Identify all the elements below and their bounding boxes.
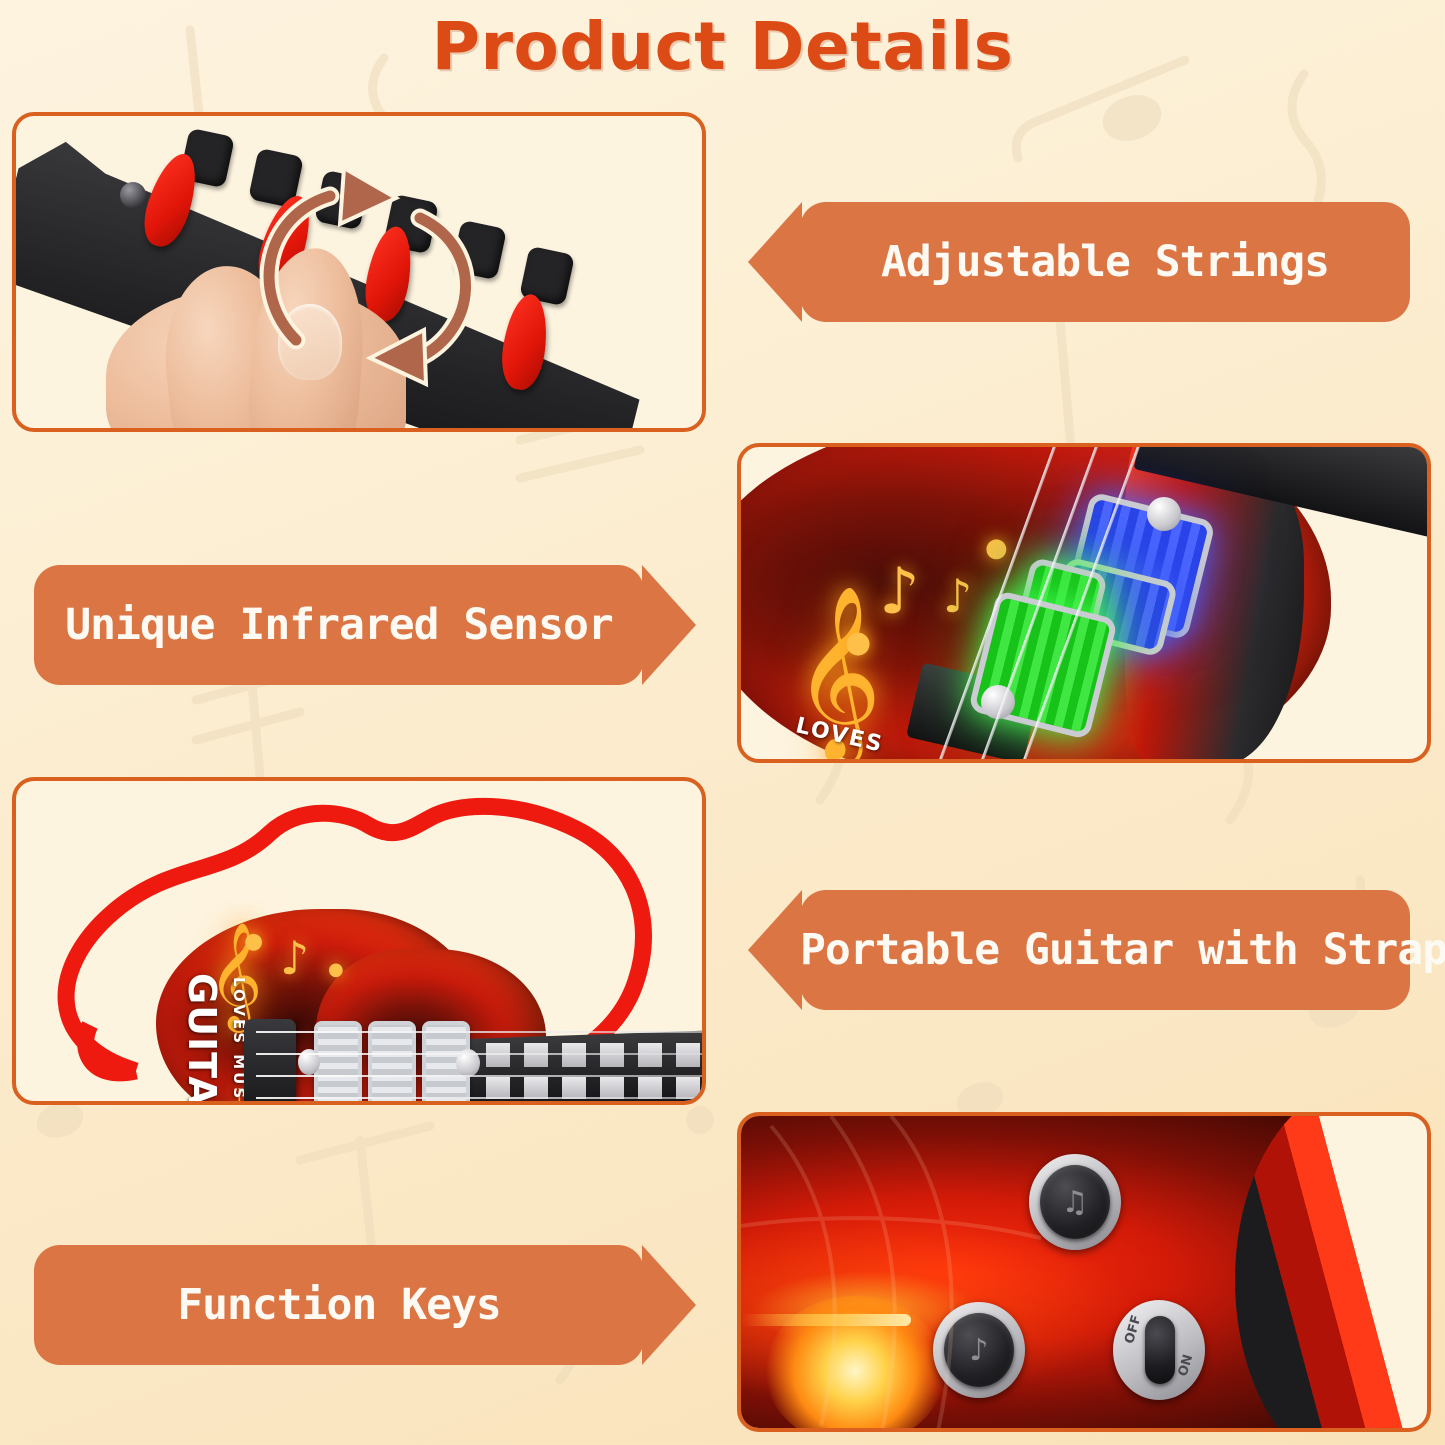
infrared-sensor-pads-photo: 𝄞 ♪ ♪ ● ● LOVES — [741, 447, 1427, 759]
music-note-artwork: ♪ — [280, 931, 309, 985]
music-note-artwork: ● — [985, 533, 1008, 563]
feature-banner-function-keys: Function Keys — [34, 1245, 644, 1365]
feature-label-adjustable-strings: Adjustable Strings — [800, 237, 1410, 287]
guitar-string — [256, 1075, 706, 1077]
photo-panel-adjustable-strings — [12, 112, 706, 432]
feature-banner-portable-guitar-with-strap: Portable Guitar with Strap — [800, 890, 1410, 1010]
guitar-string — [256, 1053, 706, 1055]
fret — [600, 1043, 624, 1067]
fret — [676, 1077, 700, 1099]
photo-panel-unique-infrared-sensor: 𝄞 ♪ ♪ ● ● LOVES — [737, 443, 1431, 763]
fret — [562, 1077, 586, 1099]
fret — [486, 1043, 510, 1067]
guitar-string — [256, 1031, 706, 1033]
feature-label-portable-guitar-with-strap: Portable Guitar with Strap — [800, 925, 1410, 975]
rotation-arrow-annotation — [212, 152, 542, 420]
feature-banner-unique-infrared-sensor: Unique Infrared Sensor — [34, 565, 644, 685]
fret — [524, 1077, 548, 1099]
music-note-artwork: ● — [244, 929, 263, 954]
feature-label-function-keys: Function Keys — [34, 1280, 644, 1330]
body-brand-text-main: GUITAR — [180, 973, 224, 1105]
fret — [562, 1043, 586, 1067]
headstock-screw — [120, 182, 146, 208]
string-pad — [314, 1021, 362, 1105]
guitar-string — [256, 1097, 706, 1099]
feature-label-unique-infrared-sensor: Unique Infrared Sensor — [34, 600, 644, 650]
fret — [600, 1077, 624, 1099]
string-anchor-knob — [1147, 497, 1181, 531]
feature-banner-adjustable-strings: Adjustable Strings — [800, 202, 1410, 322]
fret — [638, 1077, 662, 1099]
music-note-artwork: ♪ — [879, 555, 920, 629]
photo-panel-function-keys: ♫ ♪ OFF ON — [737, 1112, 1431, 1432]
music-note-artwork: ● — [328, 959, 344, 980]
function-keys-photo: ♫ ♪ OFF ON — [741, 1116, 1427, 1428]
music-note-artwork: ● — [845, 625, 871, 660]
product-details-page: Product Details — [0, 0, 1445, 1445]
guitar-with-red-strap-photo: 𝄞 ♪ ● ● ♪ GUITAR LOVES MUSIC — [16, 781, 702, 1101]
fret — [638, 1043, 662, 1067]
fret — [524, 1043, 548, 1067]
string-pad — [368, 1021, 416, 1105]
music-note-artwork: ♪ — [943, 569, 972, 623]
fret — [676, 1043, 700, 1067]
fret — [486, 1077, 510, 1099]
page-title: Product Details — [0, 8, 1445, 85]
photo-panel-portable-guitar-with-strap: 𝄞 ♪ ● ● ♪ GUITAR LOVES MUSIC — [12, 777, 706, 1105]
guitar-headstock-tuning-pegs-photo — [16, 116, 702, 428]
body-grain-lines — [741, 1116, 1431, 1432]
